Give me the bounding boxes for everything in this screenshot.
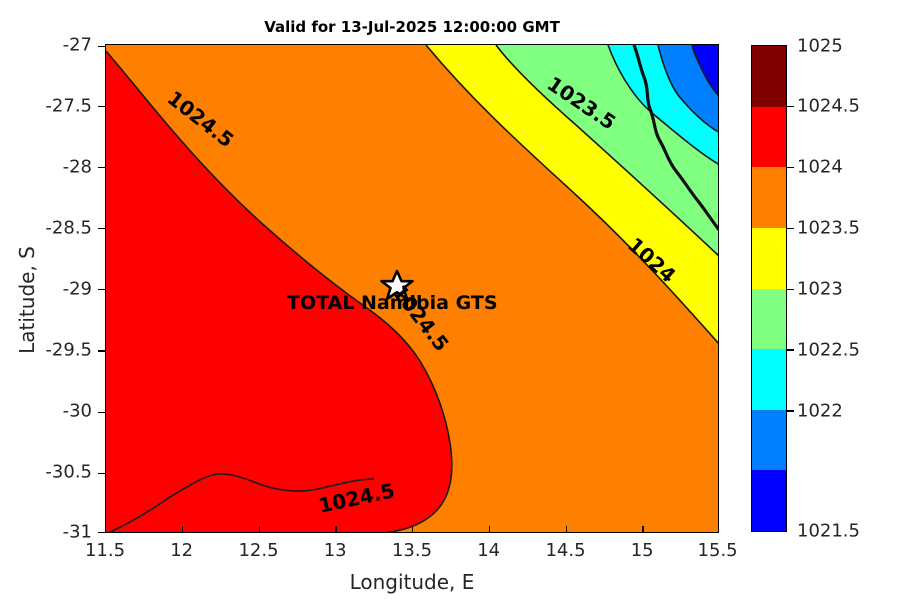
colorbar-band-1025 <box>752 46 786 107</box>
y-ticklabel-2: -28 <box>26 157 92 178</box>
colorbar-ticklabel-1025: 1025 <box>797 36 843 57</box>
colorbar-band-1022 <box>752 410 786 471</box>
x-tick-3 <box>335 526 336 533</box>
colorbar-ticklabel-1023: 1023 <box>797 279 843 300</box>
station-label: TOTAL Namibia GTS <box>287 292 498 314</box>
x-tick-8 <box>718 526 719 533</box>
y-ticklabel-8: -31 <box>26 522 92 543</box>
x-tick-7 <box>642 526 643 533</box>
x-tick-4 <box>412 526 413 533</box>
colorbar-tick-5 <box>787 349 794 350</box>
x-tick-0 <box>105 526 106 533</box>
x-tick-1 <box>182 526 183 533</box>
y-tick-6 <box>98 412 105 413</box>
y-axis-label: Latitude, S <box>15 185 39 415</box>
colorbar-band-1024 <box>752 167 786 228</box>
colorbar <box>751 45 787 532</box>
colorbar-tick-4 <box>787 289 794 290</box>
y-ticklabel-7: -30.5 <box>26 462 92 483</box>
y-tick-8 <box>98 532 105 533</box>
page-title: Valid for 13-Jul-2025 12:00:00 GMT <box>105 18 719 36</box>
x-ticklabel-8: 15.5 <box>698 540 738 561</box>
figure: Valid for 13-Jul-2025 12:00:00 GMT <box>0 0 900 600</box>
y-ticklabel-1: -27.5 <box>26 96 92 117</box>
colorbar-ticklabel-1022: 1022 <box>797 401 843 422</box>
colorbar-band-1021p5 <box>752 470 786 531</box>
x-ticklabel-5: 14 <box>477 540 500 561</box>
colorbar-tick-2 <box>787 167 794 168</box>
y-ticklabel-0: -27 <box>26 35 92 56</box>
colorbar-tick-6 <box>787 410 794 411</box>
y-tick-1 <box>98 106 105 107</box>
x-ticklabel-6: 14.5 <box>545 540 585 561</box>
colorbar-band-1023p5 <box>752 228 786 289</box>
x-ticklabel-4: 13.5 <box>392 540 432 561</box>
x-tick-6 <box>566 526 567 533</box>
colorbar-ticklabel-1023p5: 1023.5 <box>797 218 860 239</box>
x-tick-5 <box>489 526 490 533</box>
y-tick-7 <box>98 473 105 474</box>
x-ticklabel-1: 12 <box>170 540 193 561</box>
colorbar-ticklabel-1024: 1024 <box>797 157 843 178</box>
x-axis-label: Longitude, E <box>105 570 719 594</box>
x-ticklabel-0: 11.5 <box>85 540 125 561</box>
x-ticklabel-7: 15 <box>631 540 654 561</box>
y-tick-5 <box>98 350 105 351</box>
y-tick-4 <box>98 289 105 290</box>
colorbar-band-1024p5 <box>752 107 786 168</box>
y-tick-2 <box>98 167 105 168</box>
colorbar-band-1023 <box>752 289 786 350</box>
x-ticklabel-3: 13 <box>324 540 347 561</box>
colorbar-ticklabel-1022p5: 1022.5 <box>797 340 860 361</box>
colorbar-tick-3 <box>787 228 794 229</box>
colorbar-ticklabel-1021p5: 1021.5 <box>797 521 860 542</box>
x-tick-2 <box>259 526 260 533</box>
contour-field <box>106 45 719 533</box>
y-tick-0 <box>98 46 105 47</box>
x-ticklabel-2: 12.5 <box>238 540 278 561</box>
colorbar-ticklabel-1024p5: 1024.5 <box>797 96 860 117</box>
contour-plot-area: 1024.5 1023.5 1024 1024.5 1024.5 TOTAL N… <box>105 44 719 533</box>
y-tick-3 <box>98 228 105 229</box>
colorbar-tick-1 <box>787 106 794 107</box>
colorbar-band-1022p5 <box>752 349 786 410</box>
